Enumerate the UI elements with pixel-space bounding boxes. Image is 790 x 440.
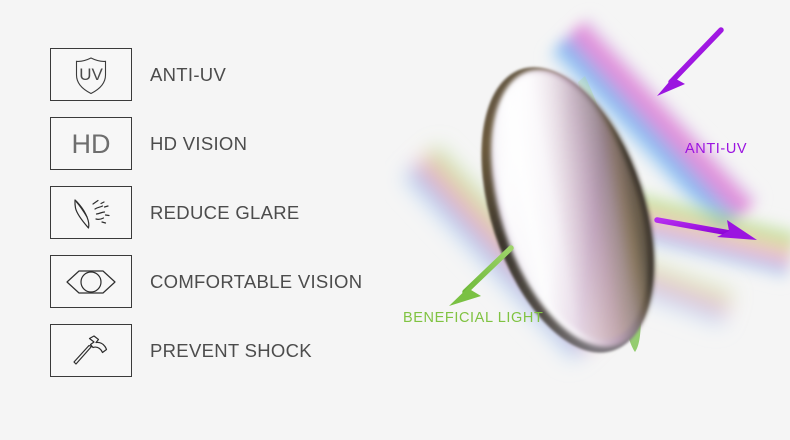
feature-label-hd-vision: HD VISION: [150, 133, 247, 155]
lens-light-diagram: ANTI-UV BENEFICIAL LIGHT: [385, 0, 790, 440]
feature-item-reduce-glare: REDUCE GLARE: [50, 186, 362, 239]
feature-list: UV ANTI-UV HD HD VISION: [50, 48, 362, 377]
feature-item-comfortable-vision: COMFORTABLE VISION: [50, 255, 362, 308]
uv-incoming-arrow: [657, 30, 721, 96]
eye-icon: [63, 266, 119, 298]
icon-box-prevent-shock: [50, 324, 132, 377]
icon-box-comfortable-vision: [50, 255, 132, 308]
feature-item-prevent-shock: PREVENT SHOCK: [50, 324, 362, 377]
feature-item-hd-vision: HD HD VISION: [50, 117, 362, 170]
feature-item-anti-uv: UV ANTI-UV: [50, 48, 362, 101]
feature-label-anti-uv: ANTI-UV: [150, 64, 226, 86]
feature-label-prevent-shock: PREVENT SHOCK: [150, 340, 312, 362]
uv-shield-icon-text: UV: [79, 65, 103, 84]
uv-shield-icon: UV: [69, 53, 113, 97]
hammer-icon: [69, 331, 113, 371]
icon-box-anti-uv: UV: [50, 48, 132, 101]
glare-deflection-icon: [68, 193, 114, 233]
feature-label-reduce-glare: REDUCE GLARE: [150, 202, 300, 224]
hd-text-icon: HD: [61, 124, 121, 164]
icon-box-reduce-glare: [50, 186, 132, 239]
feature-label-comfortable-vision: COMFORTABLE VISION: [150, 271, 362, 293]
beneficial-light-label: BENEFICIAL LIGHT: [403, 310, 543, 326]
icon-box-hd-vision: HD: [50, 117, 132, 170]
anti-uv-label: ANTI-UV: [685, 141, 747, 157]
product-feature-graphic: UV ANTI-UV HD HD VISION: [0, 0, 790, 440]
hd-text-icon-text: HD: [72, 129, 111, 159]
lens-diagram-svg: [385, 0, 790, 440]
